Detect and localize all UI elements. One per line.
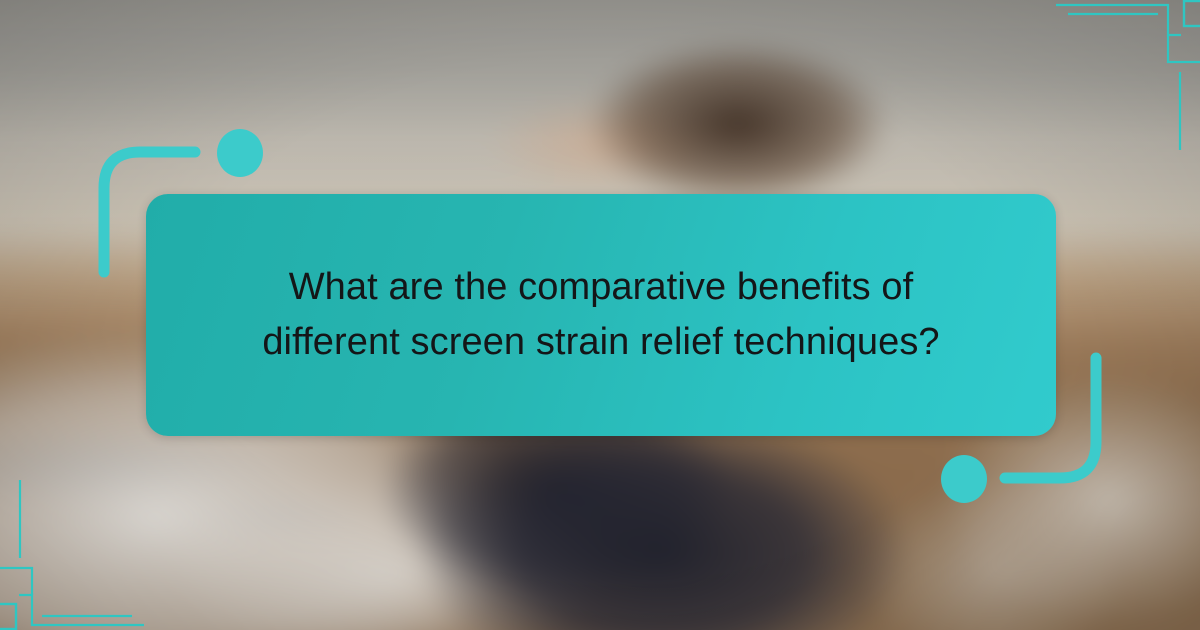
quote-card: What are the comparative benefits of dif… [146,194,1056,436]
question-text: What are the comparative benefits of dif… [256,260,946,370]
social-card-canvas: What are the comparative benefits of dif… [0,0,1200,630]
